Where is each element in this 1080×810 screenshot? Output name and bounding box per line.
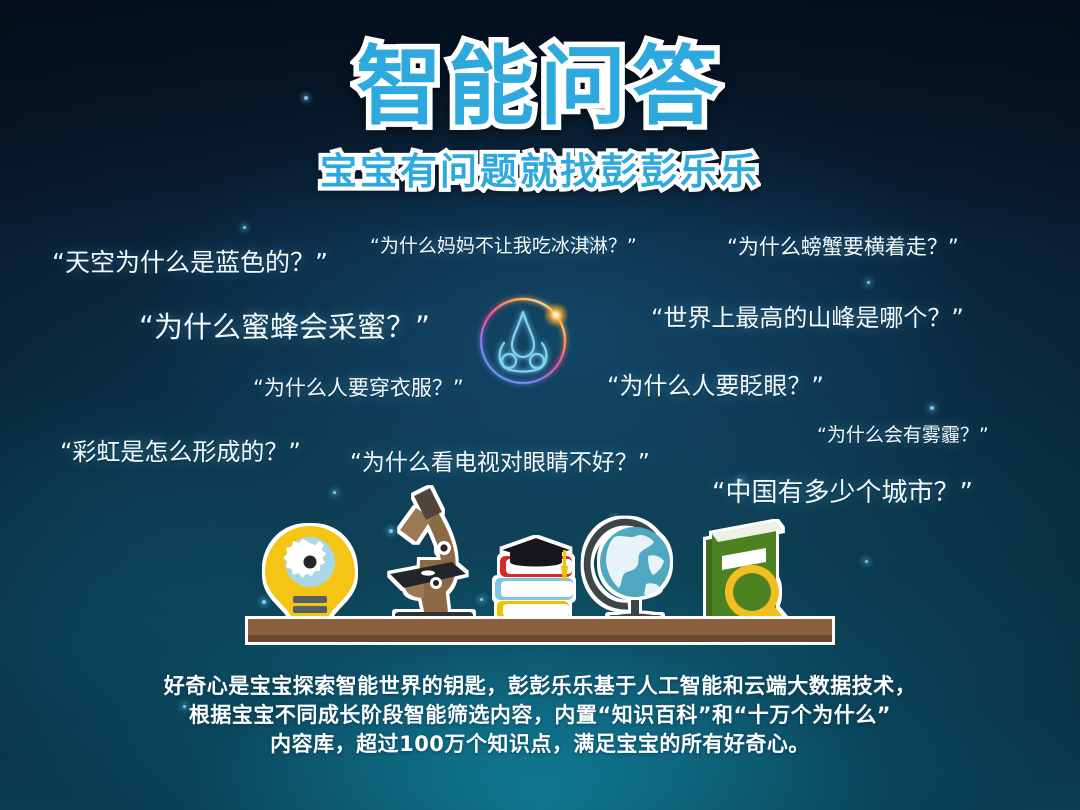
description-line-2: 根据宝宝不同成长阶段智能筛选内容，内置“知识百科”和“十万个为什么” — [0, 701, 1080, 730]
promo-poster: 智能问答 宝宝有问题就找彭彭乐乐 “天空为什么是蓝色的？”“为什么妈妈不让我吃冰… — [0, 0, 1080, 810]
question-text: “为什么人要穿衣服？” — [253, 372, 464, 402]
page-title: 智能问答 — [356, 42, 724, 133]
question-text: “为什么妈妈不让我吃冰淇淋？” — [370, 231, 637, 258]
question-text: “中国有多少个城市？” — [712, 472, 973, 509]
pengpeng-lele-logo — [468, 285, 578, 395]
question-text: “为什么看电视对眼睛不好？” — [350, 443, 650, 477]
sparkle-dot — [930, 406, 934, 410]
question-text: “彩虹是怎么形成的？” — [60, 432, 301, 467]
sparkle-dot — [243, 226, 246, 229]
sparkle-dot — [480, 598, 483, 601]
question-text: “世界上最高的山峰是哪个？” — [651, 298, 964, 333]
question-text: “天空为什么是蓝色的？” — [52, 243, 328, 279]
logo-mark — [500, 312, 547, 372]
sparkle-dot — [333, 491, 336, 494]
title-block: 智能问答 宝宝有问题就找彭彭乐乐 — [0, 42, 1080, 195]
question-text: “为什么螃蟹要横着走？” — [727, 231, 959, 261]
sparkle-dot — [865, 560, 868, 563]
sparkle-dot — [389, 529, 393, 533]
description-line-3: 内容库，超过100万个知识点，满足宝宝的所有好奇心。 — [0, 730, 1080, 759]
question-text: “为什么会有雾霾？” — [817, 420, 989, 447]
sparkle-dot — [262, 600, 266, 604]
question-text: “为什么蜜蜂会采蜜？” — [139, 304, 430, 346]
page-subtitle: 宝宝有问题就找彭彭乐乐 — [320, 141, 760, 195]
description-paragraph: 好奇心是宝宝探索智能世界的钥匙，彭彭乐乐基于人工智能和云端大数据技术， 根据宝宝… — [0, 672, 1080, 759]
description-line-1: 好奇心是宝宝探索智能世界的钥匙，彭彭乐乐基于人工智能和云端大数据技术， — [0, 672, 1080, 701]
question-text: “为什么人要眨眼？” — [607, 366, 824, 401]
sparkle-dot — [867, 281, 870, 284]
sparkle-dot — [613, 517, 617, 521]
